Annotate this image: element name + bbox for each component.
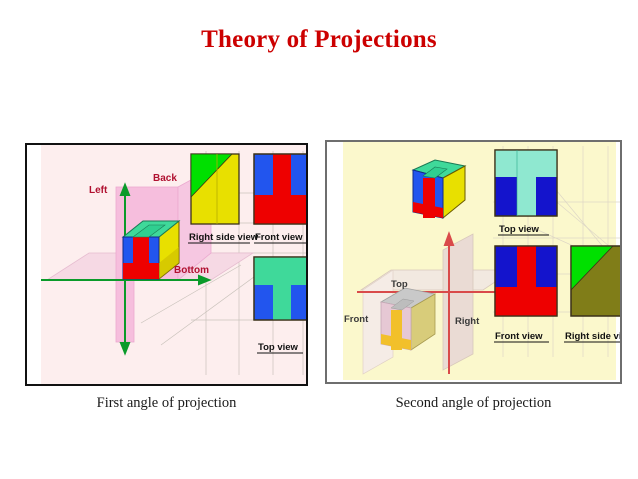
view-right-side-left-panel [191, 154, 239, 224]
first-angle-diagram: Left Back Bottom Right side view [41, 145, 308, 385]
view-label-front-right: Front view [495, 331, 543, 342]
view-label-right-side-right: Right side view [565, 331, 620, 342]
first-angle-panel-canvas: Left Back Bottom Right side view [41, 145, 306, 384]
first-angle-projection-panel: Left Back Bottom Right side view [25, 143, 308, 386]
axis-label-bottom: Bottom [174, 265, 209, 276]
second-angle-diagram: Top Front Right Top view [343, 142, 620, 382]
slide-root: Theory of Projections [0, 0, 638, 479]
view-top-right-panel [495, 150, 557, 216]
second-angle-panel-canvas: Top Front Right Top view [343, 142, 616, 380]
caption-first-angle: First angle of projection [25, 395, 308, 412]
view-label-right-side-left: Right side view [189, 232, 259, 243]
page-title: Theory of Projections [0, 26, 638, 54]
view-right-side-right-panel [571, 246, 620, 316]
axis-label-top: Top [391, 279, 408, 290]
view-label-front-left: Front view [255, 232, 303, 243]
view-top-left-panel [254, 257, 308, 320]
view-label-top-right: Top view [499, 224, 540, 235]
view-label-top-left: Top view [258, 342, 299, 353]
view-front-right-panel [495, 246, 557, 316]
axis-label-right: Right [455, 316, 480, 327]
axis-label-front: Front [344, 314, 369, 325]
three-d-object-right-inset [381, 288, 435, 350]
view-front-left-panel [254, 154, 308, 224]
three-d-object-right-top [413, 160, 465, 218]
three-d-object-left [123, 221, 179, 279]
axis-label-back: Back [153, 173, 177, 184]
second-angle-projection-panel: Top Front Right Top view [325, 140, 622, 384]
caption-second-angle: Second angle of projection [325, 395, 622, 412]
axis-label-left: Left [89, 185, 108, 196]
